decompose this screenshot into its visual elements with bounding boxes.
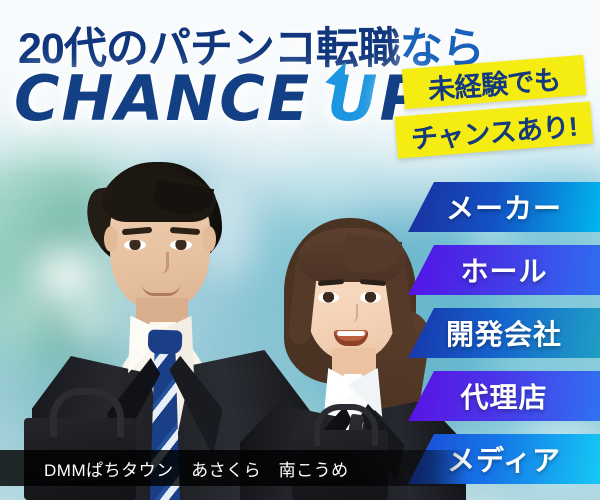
caption-bar: DMMぱちタウン あさくら 南こうめ bbox=[0, 450, 600, 486]
female-nose bbox=[346, 304, 358, 322]
male-ear bbox=[104, 226, 118, 252]
female-eye bbox=[360, 292, 381, 303]
caption-text: DMMぱちタウン あさくら 南こうめ bbox=[44, 456, 349, 481]
male-nose bbox=[154, 252, 169, 274]
category-button-developer[interactable]: 開発会社 bbox=[408, 308, 600, 358]
category-button-maker[interactable]: メーカー bbox=[408, 182, 600, 232]
wordmark-chance: CHANCE bbox=[14, 62, 311, 135]
female-fringe bbox=[298, 228, 406, 282]
headline-line-2: CHANCEUP bbox=[14, 62, 427, 135]
category-button-hall[interactable]: ホール bbox=[408, 245, 600, 295]
advertisement-banner[interactable]: 20代のパチンコ転職なら CHANCEUP 未経験でも チャンスあり! メーカー… bbox=[0, 0, 600, 500]
male-mouth bbox=[142, 284, 180, 296]
male-fringe bbox=[102, 176, 216, 222]
male-eye bbox=[170, 240, 192, 250]
category-button-agency[interactable]: 代理店 bbox=[408, 371, 600, 421]
background-bokeh-light bbox=[8, 300, 42, 334]
female-eye bbox=[318, 292, 339, 303]
male-eye bbox=[124, 240, 146, 250]
male-tie-knot bbox=[148, 329, 183, 354]
male-ear bbox=[202, 226, 216, 252]
